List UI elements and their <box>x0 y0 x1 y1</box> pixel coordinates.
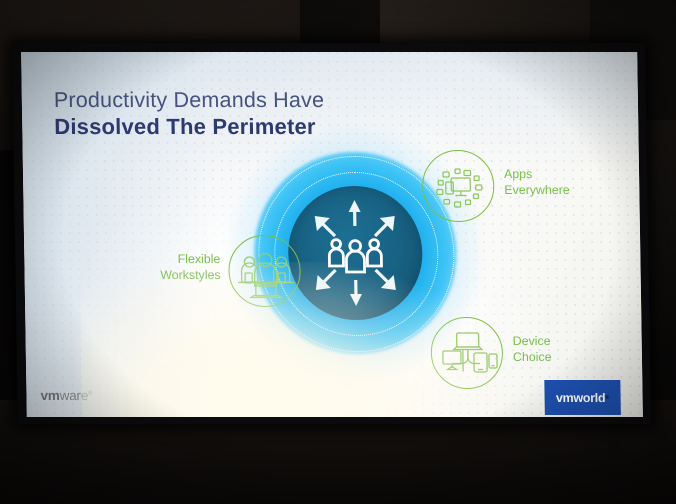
device-choice-label-line-2: Choice <box>513 350 552 366</box>
title-line-1: Productivity Demands Have <box>54 88 325 112</box>
vmware-logo-bold: vm <box>40 388 59 403</box>
vmware-logo: vmware® <box>40 388 92 403</box>
vmware-logo-rest: ware <box>60 388 89 403</box>
flexible-workstyles-icon <box>228 235 301 307</box>
vmware-trademark: ® <box>88 390 92 396</box>
hub-people-and-arrows-icon <box>287 186 423 320</box>
device-choice-icon <box>430 317 503 389</box>
flexible-workstyles-label-line-1: Flexible <box>108 252 220 268</box>
photo-of-projected-slide: Productivity Demands Have Dissolved The … <box>0 0 676 504</box>
flexible-workstyles-label-line-2: Workstyles <box>108 268 220 284</box>
projection-screen: Productivity Demands Have Dissolved The … <box>21 52 643 417</box>
apps-everywhere-icon <box>422 150 495 222</box>
apps-everywhere-label-line-1: Apps <box>504 167 570 183</box>
device-choice-label-line-1: Device <box>513 334 552 350</box>
presentation-slide: Productivity Demands Have Dissolved The … <box>21 52 643 417</box>
device-choice-label: Device Choice <box>513 334 552 366</box>
title-line-2: Dissolved The Perimeter <box>54 114 325 139</box>
vmworld-badge-label: vmworld <box>556 390 606 404</box>
vmworld-trademark: ® <box>605 394 609 400</box>
apps-everywhere-label: Apps Everywhere <box>504 167 570 199</box>
apps-everywhere-label-line-2: Everywhere <box>504 183 570 199</box>
slide-title: Productivity Demands Have Dissolved The … <box>54 88 325 139</box>
vmworld-badge: vmworld® <box>544 380 621 415</box>
flexible-workstyles-label: Flexible Workstyles <box>108 252 221 284</box>
